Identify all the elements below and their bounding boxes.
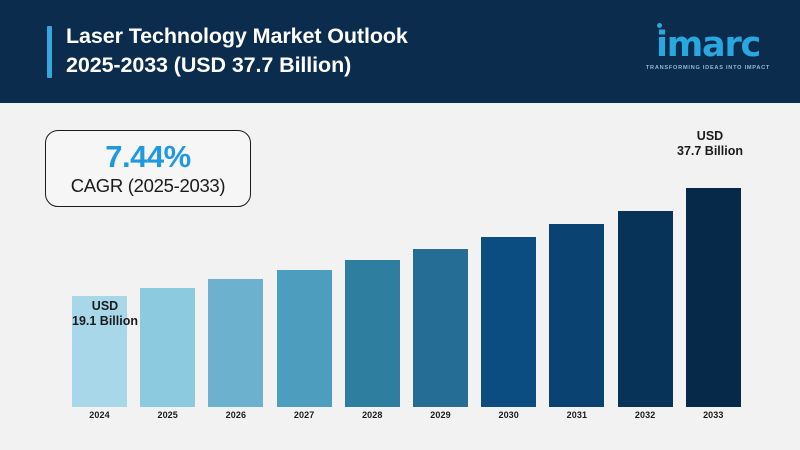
- chart-baseline: [60, 407, 750, 408]
- x-axis-label-2025: 2025: [140, 410, 195, 420]
- x-axis-label-2030: 2030: [481, 410, 536, 420]
- x-axis-label-2031: 2031: [549, 410, 604, 420]
- bar-2028: [345, 260, 400, 407]
- title-line-2: 2025-2033 (USD 37.7 Billion): [66, 51, 586, 80]
- x-axis-label-2026: 2026: [208, 410, 263, 420]
- callout-first-line2: 19.1 Billion: [50, 314, 160, 329]
- bar-2033: [686, 188, 741, 407]
- infographic-poster: Laser Technology Market Outlook 2025-203…: [0, 0, 800, 450]
- x-axis-label-2032: 2032: [618, 410, 673, 420]
- imarc-logo: imarc TRANSFORMING IDEAS INTO IMPACT: [640, 27, 776, 79]
- callout-last-line1: USD: [652, 129, 768, 144]
- callout-last-line2: 37.7 Billion: [652, 144, 768, 159]
- bar-chart: 2024202520262027202820292030203120322033…: [0, 103, 800, 450]
- logo-wordmark: imarc: [640, 27, 776, 63]
- x-axis-label-2027: 2027: [277, 410, 332, 420]
- callout-first-value: USD 19.1 Billion: [50, 299, 160, 329]
- callout-first-line1: USD: [50, 299, 160, 314]
- bar-2026: [208, 279, 263, 407]
- title-line-1: Laser Technology Market Outlook: [66, 22, 586, 51]
- header-banner: Laser Technology Market Outlook 2025-203…: [0, 0, 800, 103]
- x-axis-label-2033: 2033: [686, 410, 741, 420]
- logo-tagline: TRANSFORMING IDEAS INTO IMPACT: [640, 65, 776, 71]
- logo-text: imarc: [656, 25, 760, 65]
- x-axis-label-2024: 2024: [72, 410, 127, 420]
- page-title: Laser Technology Market Outlook 2025-203…: [66, 22, 586, 80]
- callout-last-value: USD 37.7 Billion: [652, 129, 768, 159]
- logo-dot-icon: [657, 23, 662, 28]
- bar-2032: [618, 211, 673, 407]
- title-accent-bar: [47, 26, 52, 78]
- x-axis-label-2029: 2029: [413, 410, 468, 420]
- x-axis-label-2028: 2028: [345, 410, 400, 420]
- bar-2027: [277, 270, 332, 407]
- bar-2030: [481, 237, 536, 407]
- bar-2029: [413, 249, 468, 407]
- bar-2031: [549, 224, 604, 407]
